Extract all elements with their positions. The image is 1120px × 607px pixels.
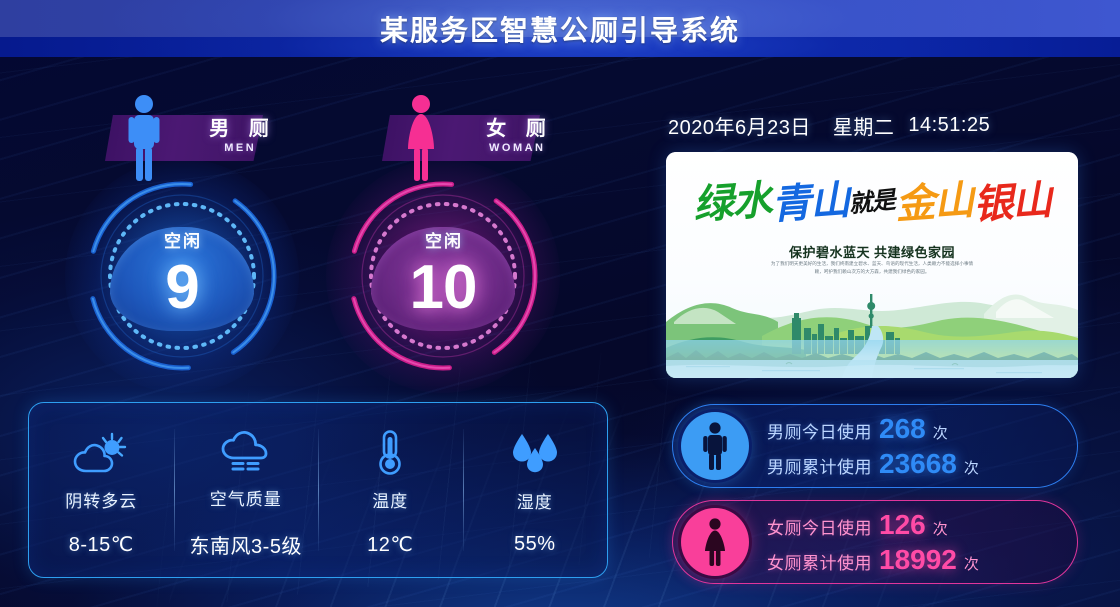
gauge-count-value: 10 [348, 251, 538, 325]
weather-value: 东南风3-5级 [190, 530, 302, 559]
banner-label-en: WOMAN [468, 141, 564, 155]
weather-value: 55% [514, 533, 556, 556]
current-date: 2020年6月23日 [668, 111, 811, 140]
calligraphy-part-2: 青山 [769, 167, 851, 230]
usage-total-men: 男厕累计使用 23668 次 [767, 448, 979, 480]
usage-lines-men: 男厕今日使用 268 次 男厕累计使用 23668 次 [767, 413, 979, 480]
weather-panel: 阴转多云 8-15℃ 空气质量 东南风3-5级 [28, 402, 608, 578]
weather-label: 空气质量 [210, 485, 282, 510]
usage-today-unit: 次 [933, 518, 948, 539]
poster-calligraphy: 绿水青山就是金山银山 [666, 170, 1078, 228]
gauge-men: 空闲 9 [87, 181, 277, 371]
usage-card-men: 男厕今日使用 268 次 男厕累计使用 23668 次 [672, 404, 1078, 488]
dashboard-screen: 某服务区智慧公厕引导系统 男 厕 MEN 女 厕 WOMAN [0, 0, 1120, 607]
banner-label-en: MEN [191, 141, 287, 155]
weather-value: 12℃ [367, 532, 413, 557]
usage-badge-women [681, 508, 749, 576]
usage-today-value: 268 [879, 413, 926, 445]
weather-label: 湿度 [517, 488, 553, 513]
header-bar: 某服务区智慧公厕引导系统 [0, 0, 1120, 57]
banner-labels: 男 厕 MEN [191, 117, 287, 155]
datetime-display: 2020年6月23日 星期二 14:51:25 [668, 108, 1078, 142]
gauge-status-label: 空闲 [348, 227, 538, 252]
weather-cell-humidity: 湿度 55% [463, 403, 608, 577]
male-figure-icon [700, 421, 730, 471]
usage-total-value: 18992 [879, 544, 957, 576]
calligraphy-part-3: 就是 [847, 180, 896, 220]
page-title: 某服务区智慧公厕引导系统 [0, 0, 1120, 57]
weather-label: 温度 [372, 487, 408, 512]
restroom-banner-women: 女 厕 WOMAN [382, 115, 540, 161]
usage-badge-men [681, 412, 749, 480]
calligraphy-part-1: 绿水 [691, 167, 773, 230]
calligraphy-part-5: 银山 [971, 167, 1053, 230]
usage-total-value: 23668 [879, 448, 957, 480]
usage-lines-women: 女厕今日使用 126 次 女厕累计使用 18992 次 [767, 509, 979, 576]
female-figure-icon [700, 517, 730, 567]
current-time: 14:51:25 [908, 114, 990, 137]
banner-label-cn: 男 厕 [191, 117, 287, 141]
usage-today-value: 126 [879, 509, 926, 541]
usage-card-women: 女厕今日使用 126 次 女厕累计使用 18992 次 [672, 500, 1078, 584]
usage-total-label: 男厕累计使用 [767, 453, 872, 478]
usage-today-women: 女厕今日使用 126 次 [767, 509, 979, 541]
usage-today-unit: 次 [933, 422, 948, 443]
calligraphy-part-4: 金山 [893, 167, 975, 230]
gauge-status-label: 空闲 [87, 227, 277, 252]
thermometer-icon [375, 429, 405, 477]
weather-cell-air-quality: 空气质量 东南风3-5级 [174, 403, 319, 577]
poster-subtitle: 保护碧水蓝天 共建绿色家园 [666, 242, 1078, 261]
banner-label-cn: 女 厕 [468, 117, 564, 141]
male-figure-icon [127, 93, 161, 183]
current-weekday: 星期二 [833, 111, 895, 140]
weather-value: 8-15℃ [69, 532, 134, 557]
gauge-women: 空闲 10 [348, 181, 538, 371]
environment-poster: 绿水青山就是金山银山 保护碧水蓝天 共建绿色家园 为了我们明天更美好的生活，我们… [666, 152, 1078, 378]
female-figure-icon [404, 93, 438, 183]
usage-total-label: 女厕累计使用 [767, 549, 872, 574]
usage-today-men: 男厕今日使用 268 次 [767, 413, 979, 445]
weather-cell-condition: 阴转多云 8-15℃ [29, 403, 174, 577]
weather-label: 阴转多云 [65, 487, 137, 512]
usage-today-label: 男厕今日使用 [767, 418, 872, 443]
sun-behind-cloud-icon [72, 429, 130, 477]
usage-total-women: 女厕累计使用 18992 次 [767, 544, 979, 576]
usage-total-unit: 次 [964, 457, 979, 478]
gauge-count-value: 9 [87, 251, 277, 325]
restroom-banner-men: 男 厕 MEN [105, 115, 263, 161]
cloud-with-lines-icon [220, 427, 272, 475]
weather-cell-temperature: 温度 12℃ [318, 403, 463, 577]
poster-water-reflection [666, 340, 1078, 378]
usage-total-unit: 次 [964, 553, 979, 574]
water-drops-icon [508, 430, 562, 478]
banner-labels: 女 厕 WOMAN [468, 117, 564, 155]
usage-today-label: 女厕今日使用 [767, 514, 872, 539]
